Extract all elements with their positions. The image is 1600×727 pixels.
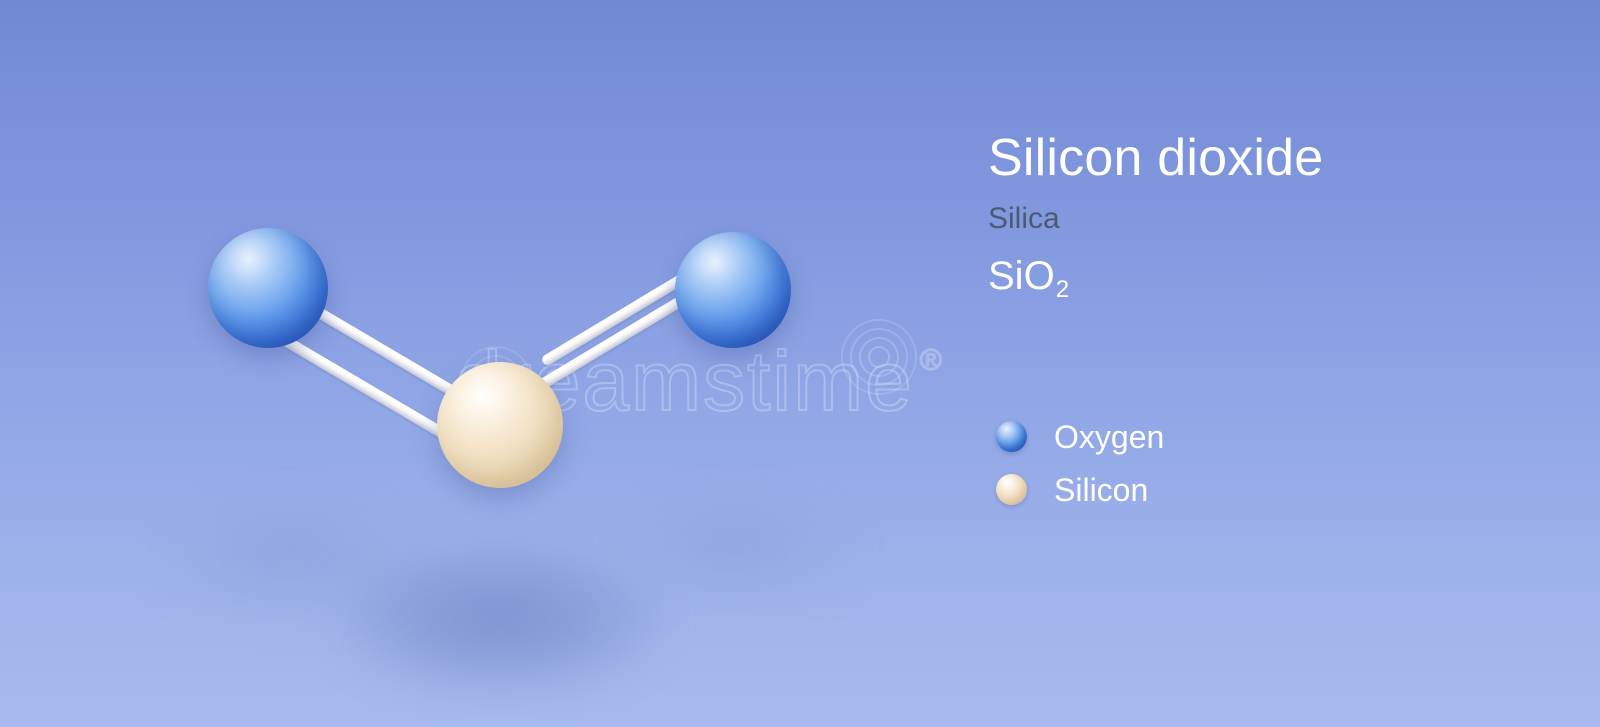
compound-info-panel: Silicon dioxide Silica SiO2 bbox=[988, 132, 1508, 296]
legend-sphere-oxygen-icon bbox=[996, 421, 1027, 452]
compound-name: Silicon dioxide bbox=[988, 132, 1508, 184]
compound-alias: Silica bbox=[988, 204, 1508, 234]
legend-sphere-silicon-icon bbox=[996, 474, 1027, 505]
formula-base: SiO bbox=[988, 254, 1055, 298]
molecule-ball-and-stick-model bbox=[0, 0, 1600, 727]
legend-item-silicon: Silicon bbox=[996, 463, 1164, 516]
compound-formula: SiO2 bbox=[988, 256, 1508, 296]
atom-oxygen-right bbox=[675, 232, 791, 348]
atom-color-legend: Oxygen Silicon bbox=[996, 410, 1164, 516]
legend-label-silicon: Silicon bbox=[1054, 474, 1148, 506]
legend-item-oxygen: Oxygen bbox=[996, 410, 1164, 463]
molecular-model-image: dreamstime ® Silicon dioxide Silica SiO2… bbox=[0, 0, 1600, 727]
atom-oxygen-left bbox=[208, 228, 328, 348]
atom-silicon-center bbox=[437, 362, 563, 488]
formula-subscript: 2 bbox=[1056, 276, 1069, 303]
legend-label-oxygen: Oxygen bbox=[1054, 421, 1164, 453]
